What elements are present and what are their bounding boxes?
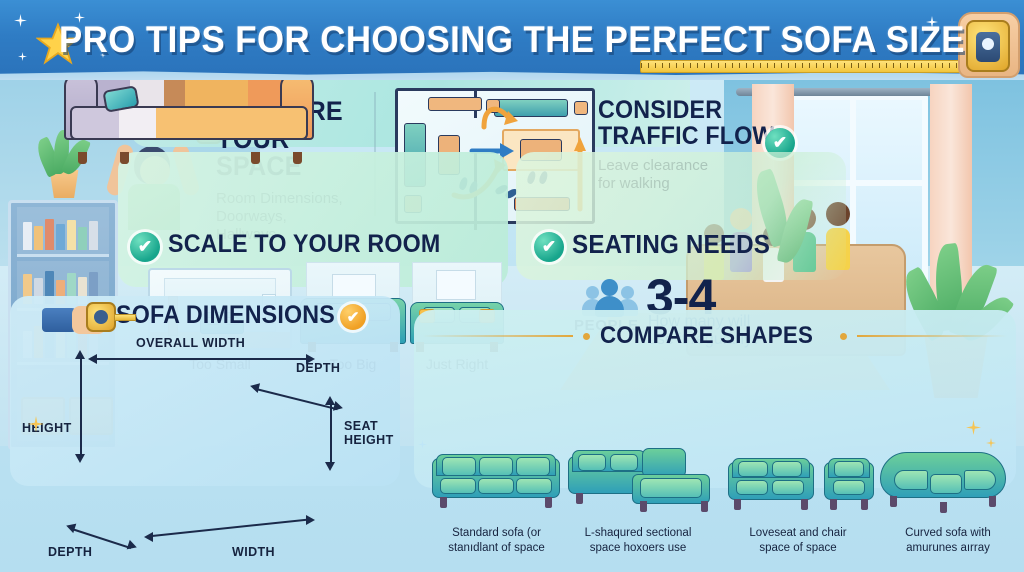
arrow-seat-height	[330, 404, 332, 464]
label-seat-height-line2: HEIGHT	[344, 433, 394, 447]
seating-heading: SEATING NEEDS	[572, 231, 770, 258]
traffic-heading-line2: TRAFFIC FLOW	[598, 124, 784, 150]
caption-line2: stanıdlant of space	[448, 542, 545, 554]
label-seat-height-line1: SEAT	[344, 419, 378, 433]
check-circle-icon-scale: ✔	[130, 232, 160, 262]
infographic-root: MEASURE YOUR SPACE Room Dimensions, Door…	[0, 0, 1024, 572]
arrow-cap	[325, 462, 335, 471]
sparkle-icon	[986, 438, 996, 448]
caption-line1: L-shaqured sectional	[585, 527, 692, 539]
label-depth-top: DEPTH	[296, 362, 340, 376]
shape-loveseat	[728, 456, 814, 514]
compare-heading: COMPARE SHAPES	[600, 324, 813, 348]
label-depth-bottom: DEPTH	[48, 546, 92, 560]
caption-line1: Standard sofa (or	[452, 527, 541, 539]
arrow-cap	[88, 354, 97, 364]
check-circle-icon-dimensions: ✔	[340, 304, 366, 330]
caption-line2: space of space	[759, 542, 836, 554]
shape-l-shaped-sectional	[568, 448, 714, 514]
compare-title-row: COMPARE SHAPES	[414, 324, 1016, 348]
compare-caption-0: Standard sofa (or stanıdlant of space	[424, 526, 569, 556]
shape-standard-sofa	[432, 452, 560, 514]
hand-holding-tape-measure-icon	[42, 300, 138, 340]
sparkle-icon	[14, 14, 27, 27]
header-bar: PRO TIPS FOR CHOOSING THE PERFECT SOFA S…	[0, 0, 1024, 80]
check-circle-icon-seating: ✔	[534, 232, 564, 262]
label-width: WIDTH	[232, 546, 275, 560]
compare-caption-3: Curved sofa with amurunes aırray	[876, 526, 1020, 556]
compare-caption-1: L-shaqured sectional space hoxoers use	[562, 526, 714, 556]
caption-line2: space hoxoers use	[590, 542, 687, 554]
arrow-overall-width	[96, 358, 308, 360]
panel-seating	[516, 152, 846, 280]
shape-armchair	[824, 456, 874, 514]
decorative-line-left	[423, 335, 573, 337]
decorative-dot-right	[840, 333, 847, 340]
arrow-cap	[325, 396, 335, 405]
dimensions-heading: SOFA DIMENSIONS	[116, 303, 335, 329]
traffic-heading-line1: CONSIDER	[598, 98, 784, 124]
caption-line1: Loveseat and chair	[749, 527, 846, 539]
sparkle-icon	[28, 416, 44, 432]
label-seat-height: SEAT HEIGHT	[344, 420, 394, 448]
arrow-cap	[75, 350, 85, 359]
sparkle-icon	[966, 420, 981, 435]
decorative-line-right	[857, 335, 1007, 337]
decorative-dot-left	[583, 333, 590, 340]
caption-line1: Curved sofa with	[905, 527, 991, 539]
arrow-cap	[144, 532, 153, 542]
label-overall-width: OVERALL WIDTH	[136, 337, 245, 351]
arrow-height	[80, 358, 82, 456]
caption-line2: amurunes aırray	[906, 542, 990, 554]
shape-curved-sofa	[880, 448, 1006, 518]
scale-heading: SCALE TO YOUR ROOM	[168, 232, 440, 258]
page-title: PRO TIPS FOR CHOOSING THE PERFECT SOFA S…	[31, 0, 994, 80]
sparkle-icon	[18, 52, 27, 61]
sparkle-icon	[418, 440, 427, 449]
arrow-cap	[75, 454, 85, 463]
arrow-cap	[306, 515, 315, 525]
compare-caption-2: Loveseat and chair space of space	[722, 526, 874, 556]
